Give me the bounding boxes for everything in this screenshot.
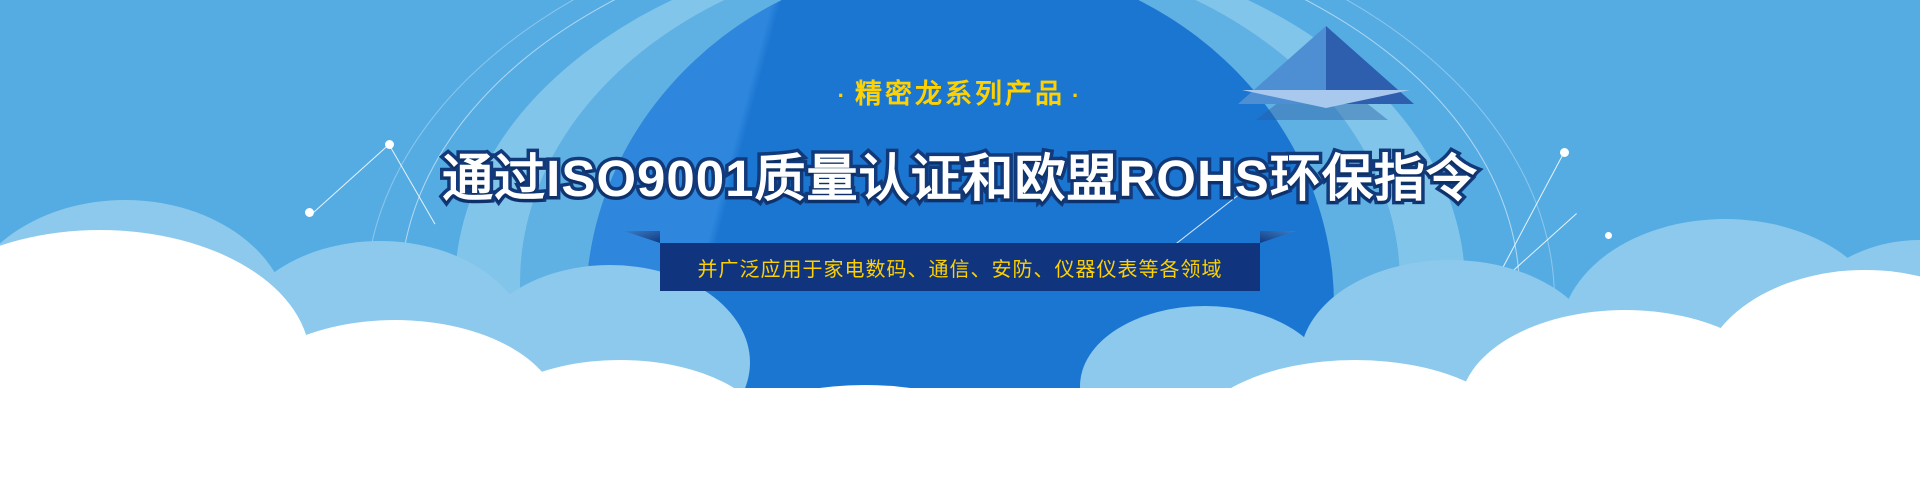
ribbon-body: 并广泛应用于家电数码、通信、安防、仪器仪表等各领域 (660, 243, 1260, 291)
ribbon-label: 并广泛应用于家电数码、通信、安防、仪器仪表等各领域 (698, 253, 1223, 282)
eyebrow-text: ·精密龙系列产品· (831, 72, 1090, 111)
banner-headline: 通过ISO9001质量认证和欧盟ROHS环保指令 (442, 137, 1478, 211)
eyebrow-bullet-right: · (1065, 83, 1089, 108)
ribbon-tail-right (1260, 231, 1296, 243)
promo-banner: ·精密龙系列产品· 通过ISO9001质量认证和欧盟ROHS环保指令 并广泛应用… (0, 0, 1920, 480)
eyebrow-label: 精密龙系列产品 (855, 79, 1065, 109)
ribbon-banner: 并广泛应用于家电数码、通信、安防、仪器仪表等各领域 (660, 243, 1260, 291)
ribbon-tail-left (624, 231, 660, 243)
banner-content: ·精密龙系列产品· 通过ISO9001质量认证和欧盟ROHS环保指令 并广泛应用… (0, 0, 1920, 480)
eyebrow-bullet-left: · (831, 83, 855, 108)
